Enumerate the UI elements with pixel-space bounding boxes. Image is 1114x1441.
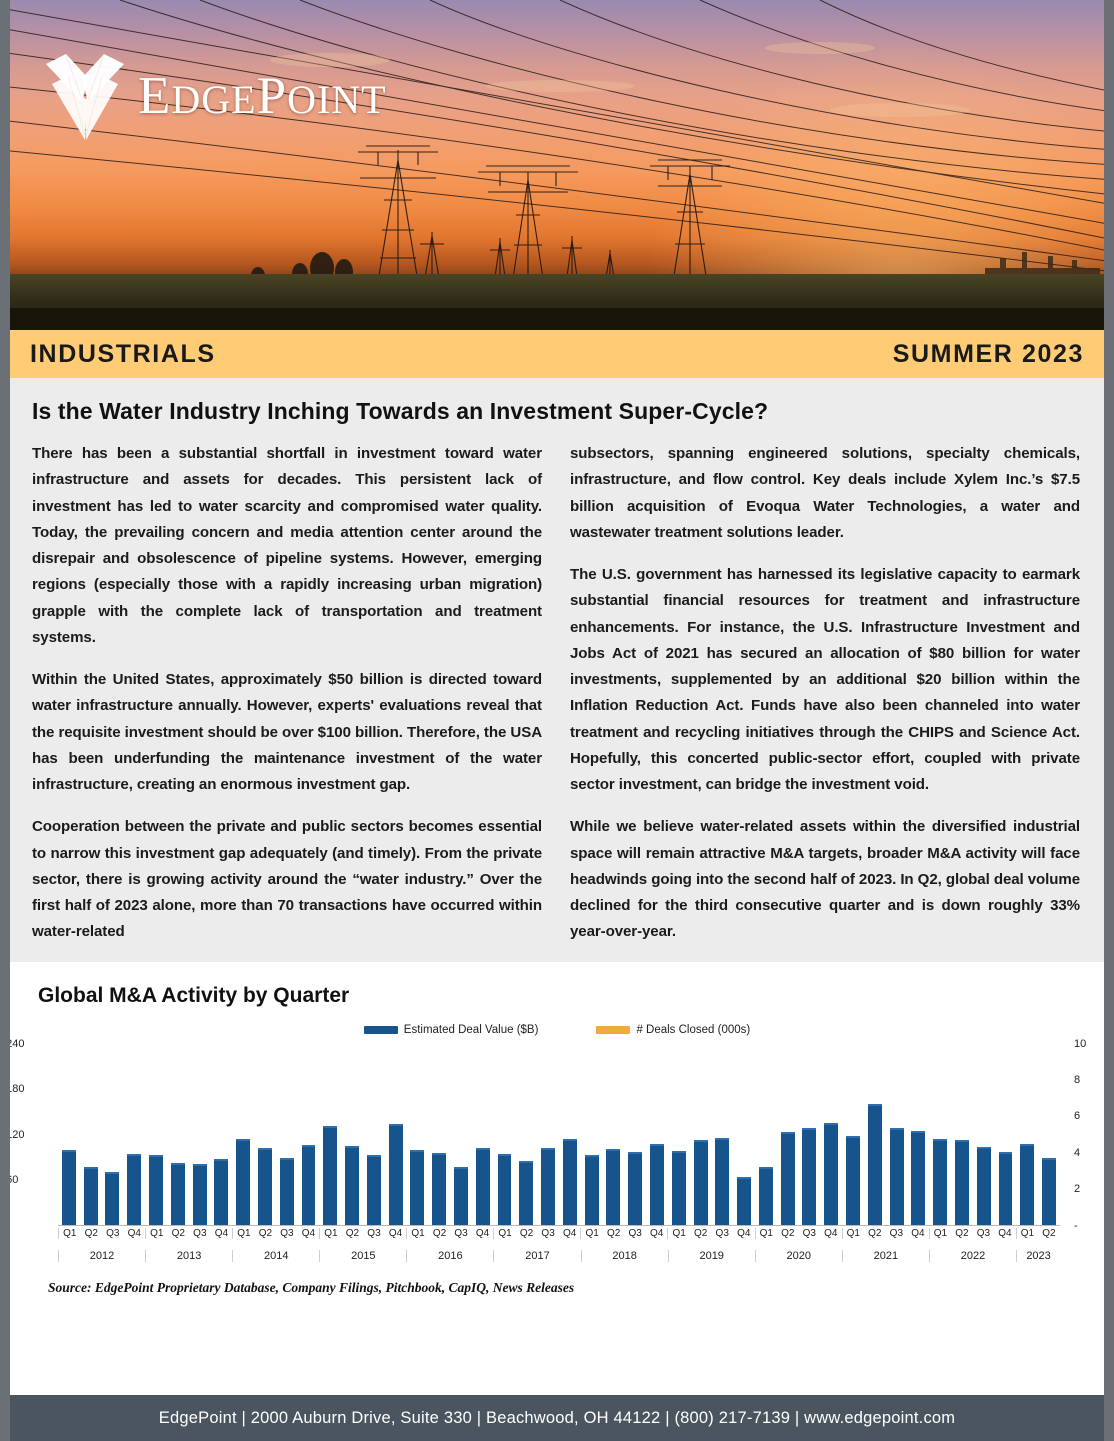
quarter-label: Q4 (559, 1228, 581, 1239)
quarter-label: Q4 (820, 1228, 842, 1239)
year-label-row: 2012201320142015201620172018201920202021… (58, 1250, 1060, 1262)
legend-item-deal-value: Estimated Deal Value ($B) (364, 1024, 539, 1036)
quarter-label: Q1 (755, 1228, 778, 1239)
year-label: 2015 (319, 1250, 406, 1262)
quarter-label: Q2 (777, 1228, 799, 1239)
legend-item-deals-closed: # Deals Closed (000s) (596, 1024, 750, 1036)
wordmark-oint: OINT (287, 77, 387, 122)
article-column-right: subsectors, spanning engineered solution… (570, 441, 1080, 946)
paragraph: There has been a substantial shortfall i… (32, 441, 542, 651)
chart-legend: Estimated Deal Value ($B) # Deals Closed… (0, 1024, 1114, 1036)
year-label: 2020 (755, 1250, 842, 1262)
year-label: 2023 (1016, 1250, 1060, 1262)
year-label: 2012 (58, 1250, 145, 1262)
quarter-label: Q2 (951, 1228, 973, 1239)
quarter-label: Q1 (667, 1228, 690, 1239)
y-tick-right: 6 (1074, 1110, 1080, 1122)
quarter-label: Q4 (994, 1228, 1016, 1239)
legend-swatch-bar (364, 1026, 398, 1034)
page-footer: EdgePoint | 2000 Auburn Drive, Suite 330… (0, 1395, 1114, 1441)
quarter-label: Q1 (406, 1228, 429, 1239)
chart-plot-area: $240$180$120$60$- 108642- (0, 1044, 1114, 1226)
quarter-label: Q2 (255, 1228, 277, 1239)
quarter-label: Q2 (603, 1228, 625, 1239)
article-column-left: There has been a substantial shortfall i… (32, 441, 542, 946)
quarter-label: Q1 (145, 1228, 168, 1239)
wordmark-dge: DGE (171, 77, 256, 122)
field-foreground (0, 308, 1114, 330)
quarter-label: Q3 (624, 1228, 646, 1239)
quarter-label: Q1 (580, 1228, 603, 1239)
chart-x-labels: Q1Q2Q3Q4Q1Q2Q3Q4Q1Q2Q3Q4Q1Q2Q3Q4Q1Q2Q3Q4… (0, 1226, 1114, 1272)
y-tick-right: 8 (1074, 1074, 1080, 1086)
year-label: 2013 (145, 1250, 232, 1262)
hero-image-powerlines-sunset: EDGEPOINT (0, 0, 1114, 330)
paragraph: subsectors, spanning engineered solution… (570, 441, 1080, 546)
quarter-label: Q1 (58, 1228, 81, 1239)
quarter-label: Q3 (799, 1228, 821, 1239)
year-label: 2019 (668, 1250, 755, 1262)
quarter-label: Q3 (973, 1228, 995, 1239)
article-columns: There has been a substantial shortfall i… (32, 441, 1082, 946)
quarter-label: Q4 (298, 1228, 320, 1239)
quarter-label: Q3 (711, 1228, 733, 1239)
quarter-label: Q4 (646, 1228, 668, 1239)
quarter-label-row: Q1Q2Q3Q4Q1Q2Q3Q4Q1Q2Q3Q4Q1Q2Q3Q4Q1Q2Q3Q4… (58, 1228, 1060, 1239)
quarter-label: Q3 (450, 1228, 472, 1239)
quarter-label: Q4 (733, 1228, 755, 1239)
sector-label: INDUSTRIALS (30, 340, 216, 369)
paragraph: The U.S. government has harnessed its le… (570, 562, 1080, 798)
paragraph: Cooperation between the private and publ… (32, 814, 542, 945)
edgepoint-logo: EDGEPOINT (42, 48, 387, 144)
quarter-label: Q3 (537, 1228, 559, 1239)
year-label: 2014 (232, 1250, 319, 1262)
edgepoint-wordmark: EDGEPOINT (138, 70, 387, 123)
quarter-label: Q2 (864, 1228, 886, 1239)
quarter-label: Q1 (929, 1228, 952, 1239)
wordmark-e: E (138, 67, 171, 125)
article-headline: Is the Water Industry Inching Towards an… (32, 398, 1082, 425)
quarter-label: Q4 (907, 1228, 929, 1239)
quarter-label: Q1 (1016, 1228, 1039, 1239)
quarter-label: Q1 (493, 1228, 516, 1239)
quarter-label: Q1 (232, 1228, 255, 1239)
quarter-label: Q2 (81, 1228, 103, 1239)
year-label: 2018 (581, 1250, 668, 1262)
issue-label: SUMMER 2023 (893, 340, 1084, 369)
page-right-margin (1104, 0, 1114, 1441)
year-label: 2016 (406, 1250, 493, 1262)
chart-title: Global M&A Activity by Quarter (38, 984, 1114, 1008)
quarter-label: Q2 (516, 1228, 538, 1239)
quarter-label: Q3 (102, 1228, 124, 1239)
paragraph: Within the United States, approximately … (32, 667, 542, 798)
quarter-label: Q4 (472, 1228, 494, 1239)
page-left-margin (0, 0, 10, 1441)
quarter-label: Q2 (690, 1228, 712, 1239)
quarter-label: Q2 (342, 1228, 364, 1239)
quarter-label: Q4 (211, 1228, 233, 1239)
paragraph: While we believe water-related assets wi… (570, 814, 1080, 945)
year-label: 2017 (493, 1250, 580, 1262)
quarter-label: Q2 (168, 1228, 190, 1239)
year-label: 2022 (929, 1250, 1016, 1262)
y-tick-right: 4 (1074, 1147, 1080, 1159)
article-section: Is the Water Industry Inching Towards an… (0, 378, 1114, 962)
quarter-label: Q3 (363, 1228, 385, 1239)
quarter-label: Q2 (429, 1228, 451, 1239)
quarter-label: Q3 (276, 1228, 298, 1239)
legend-swatch-line (596, 1026, 630, 1034)
quarter-label: Q3 (886, 1228, 908, 1239)
quarter-label: Q1 (842, 1228, 865, 1239)
legend-label: # Deals Closed (000s) (636, 1024, 750, 1036)
edgepoint-chevron-icon (42, 48, 128, 144)
quarter-label: Q3 (189, 1228, 211, 1239)
year-label: 2021 (842, 1250, 929, 1262)
chart-section: Global M&A Activity by Quarter Estimated… (0, 962, 1114, 1314)
quarter-label: Q4 (124, 1228, 146, 1239)
legend-label: Estimated Deal Value ($B) (404, 1024, 539, 1036)
quarter-label: Q4 (385, 1228, 407, 1239)
issue-banner: INDUSTRIALS SUMMER 2023 (0, 330, 1114, 378)
y-tick-right: 10 (1074, 1038, 1086, 1050)
quarter-label: Q2 (1038, 1228, 1060, 1239)
footer-text: EdgePoint | 2000 Auburn Drive, Suite 330… (159, 1409, 955, 1428)
newsletter-page: EDGEPOINT INDUSTRIALS SUMMER 2023 Is the… (0, 0, 1114, 1441)
wordmark-p: P (257, 67, 287, 125)
y-tick-right: 2 (1074, 1183, 1080, 1195)
quarter-label: Q1 (319, 1228, 342, 1239)
